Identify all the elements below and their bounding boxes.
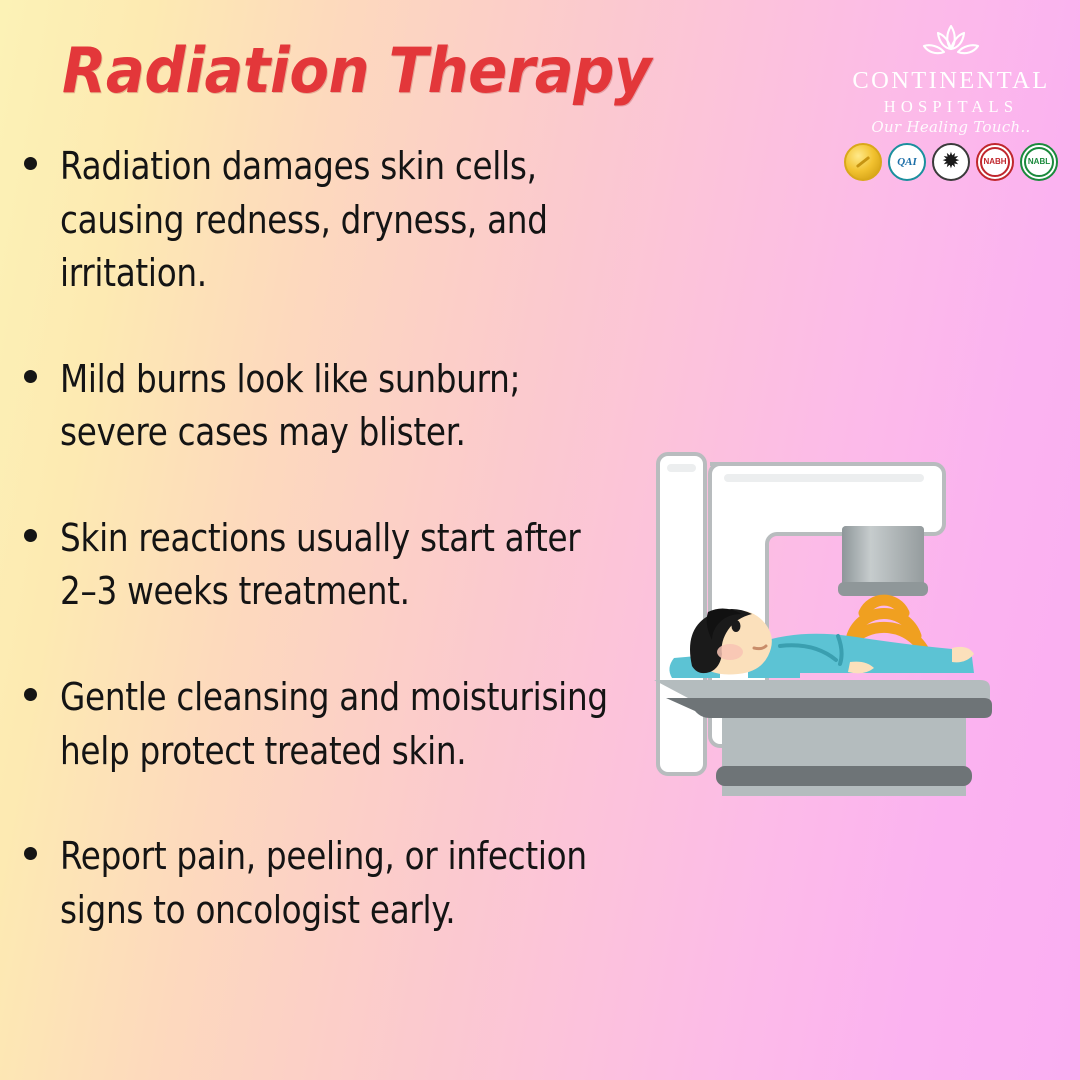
bullet-dot-icon: [24, 370, 37, 383]
lotus-icon: [914, 22, 988, 66]
infographic-poster: Radiation Therapy CONTINENTAL HOSPITALS …: [0, 0, 1080, 1080]
star-icon: ✹: [943, 152, 959, 171]
list-item-text: Report pain, peeling, or infection signs…: [60, 830, 614, 937]
radiation-therapy-illustration: [652, 436, 1052, 796]
list-item: Radiation damages skin cells, causing re…: [24, 140, 640, 301]
patient-figure: [669, 608, 974, 678]
list-item: Gentle cleansing and moisturising help p…: [24, 671, 640, 778]
bullet-dot-icon: [24, 688, 37, 701]
brand-subtitle: HOSPITALS: [840, 97, 1062, 117]
nabl-badge: NABL: [1020, 143, 1058, 181]
bullet-dot-icon: [24, 847, 37, 860]
accreditation-badges: QAI ✹ NABH NABL: [840, 143, 1062, 181]
treatment-head: [838, 526, 928, 596]
brand-tagline: Our Healing Touch..: [840, 118, 1062, 136]
nabl-badge-label: NABL: [1024, 147, 1054, 177]
bullet-dot-icon: [24, 529, 37, 542]
brand-logo: CONTINENTAL HOSPITALS Our Healing Touch.…: [840, 22, 1062, 181]
qai-badge-label: QAI: [897, 156, 917, 168]
machine-back-pillar: [658, 454, 705, 774]
list-item-text: Radiation damages skin cells, causing re…: [60, 140, 614, 301]
list-item: Report pain, peeling, or infection signs…: [24, 830, 640, 937]
list-item: Mild burns look like sunburn; severe cas…: [24, 353, 640, 460]
bullet-list: Radiation damages skin cells, causing re…: [24, 140, 640, 989]
gold-medal-badge: [844, 143, 882, 181]
qai-badge: QAI: [888, 143, 926, 181]
nabh-badge-label: NABH: [980, 147, 1010, 177]
star-emblem-badge: ✹: [932, 143, 970, 181]
list-item-text: Mild burns look like sunburn; severe cas…: [60, 353, 614, 460]
bullet-dot-icon: [24, 157, 37, 170]
list-item: Skin reactions usually start after 2–3 w…: [24, 512, 640, 619]
list-item-text: Gentle cleansing and moisturising help p…: [60, 671, 614, 778]
page-title: Radiation Therapy: [62, 34, 651, 107]
brand-name: CONTINENTAL: [840, 68, 1062, 94]
nabh-badge: NABH: [976, 143, 1014, 181]
list-item-text: Skin reactions usually start after 2–3 w…: [60, 512, 614, 619]
